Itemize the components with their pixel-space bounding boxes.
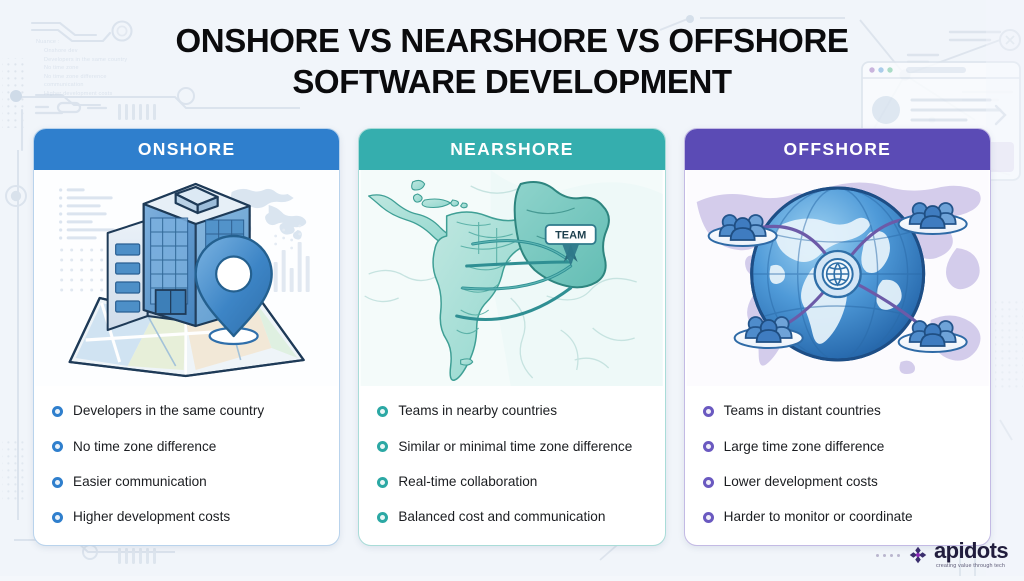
card-body-offshore: Teams in distant countries Large time zo… <box>685 170 990 545</box>
bullet-text: No time zone difference <box>73 439 216 456</box>
illustration-offshore-globe-network <box>685 170 990 386</box>
bullet-item: Higher development costs <box>52 508 325 527</box>
card-onshore: ONSHORE <box>33 128 340 546</box>
bullet-dot-icon <box>703 441 714 452</box>
title-line-2: SOFTWARE DEVELOPMENT <box>0 61 1024 102</box>
bullet-text: Balanced cost and communication <box>398 509 605 526</box>
bullet-list-offshore: Teams in distant countries Large time zo… <box>685 386 990 545</box>
bullet-item: Real-time collaboration <box>377 473 650 492</box>
bullet-dot-icon <box>377 441 388 452</box>
logo-text-block: apidots creating value through tech <box>934 540 1008 570</box>
team-marker-label: TEAM <box>555 230 586 242</box>
bullet-item: Teams in distant countries <box>703 402 976 421</box>
bullet-item: Easier communication <box>52 473 325 492</box>
title-line-1: ONSHORE VS NEARSHORE VS OFFSHORE <box>0 20 1024 61</box>
bullet-text: Large time zone difference <box>724 439 885 456</box>
illustration-nearshore-region-map: TEAM <box>359 170 664 386</box>
bullet-list-onshore: Developers in the same country No time z… <box>34 386 339 545</box>
bullet-item: Balanced cost and communication <box>377 508 650 527</box>
bullet-dot-icon <box>703 477 714 488</box>
logo-tagline: creating value through tech <box>936 562 1005 570</box>
bullet-item: Large time zone difference <box>703 438 976 457</box>
bullet-dot-icon <box>377 512 388 523</box>
brand-logo: apidots creating value through tech <box>876 540 1008 570</box>
bullet-item: Teams in nearby countries <box>377 402 650 421</box>
illustration-onshore-office-building-map <box>34 170 339 386</box>
comparison-columns: ONSHORE <box>33 128 991 546</box>
bullet-text: Easier communication <box>73 474 207 491</box>
card-nearshore: NEARSHORE <box>358 128 665 546</box>
logo-name: apidots <box>934 540 1008 562</box>
bullet-dot-icon <box>52 512 63 523</box>
card-header-onshore: ONSHORE <box>34 129 339 170</box>
bullet-text: Harder to monitor or coordinate <box>724 509 913 526</box>
bullet-dot-icon <box>52 406 63 417</box>
bullet-item: Similar or minimal time zone difference <box>377 438 650 457</box>
apidots-mark-icon <box>907 544 929 566</box>
bullet-text: Similar or minimal time zone difference <box>398 439 632 456</box>
card-header-offshore: OFFSHORE <box>685 129 990 170</box>
logo-leading-dots <box>876 554 900 557</box>
bullet-text: Real-time collaboration <box>398 474 537 491</box>
bullet-text: Lower development costs <box>724 474 878 491</box>
bullet-dot-icon <box>52 477 63 488</box>
bullet-dot-icon <box>377 406 388 417</box>
bullet-dot-icon <box>377 477 388 488</box>
page-title: ONSHORE VS NEARSHORE VS OFFSHORE SOFTWAR… <box>0 20 1024 102</box>
card-body-nearshore: TEAM Teams in nearby countries Similar o… <box>359 170 664 545</box>
bullet-list-nearshore: Teams in nearby countries Similar or min… <box>359 386 664 545</box>
card-header-nearshore: NEARSHORE <box>359 129 664 170</box>
bullet-text: Teams in nearby countries <box>398 403 557 420</box>
bullet-item: Harder to monitor or coordinate <box>703 508 976 527</box>
bullet-dot-icon <box>703 406 714 417</box>
card-body-onshore: Developers in the same country No time z… <box>34 170 339 545</box>
bullet-item: No time zone difference <box>52 438 325 457</box>
bullet-item: Developers in the same country <box>52 402 325 421</box>
bullet-dot-icon <box>52 441 63 452</box>
bullet-text: Teams in distant countries <box>724 403 881 420</box>
bullet-dot-icon <box>703 512 714 523</box>
bullet-text: Higher development costs <box>73 509 230 526</box>
bullet-text: Developers in the same country <box>73 403 264 420</box>
bullet-item: Lower development costs <box>703 473 976 492</box>
card-offshore: OFFSHORE <box>684 128 991 546</box>
